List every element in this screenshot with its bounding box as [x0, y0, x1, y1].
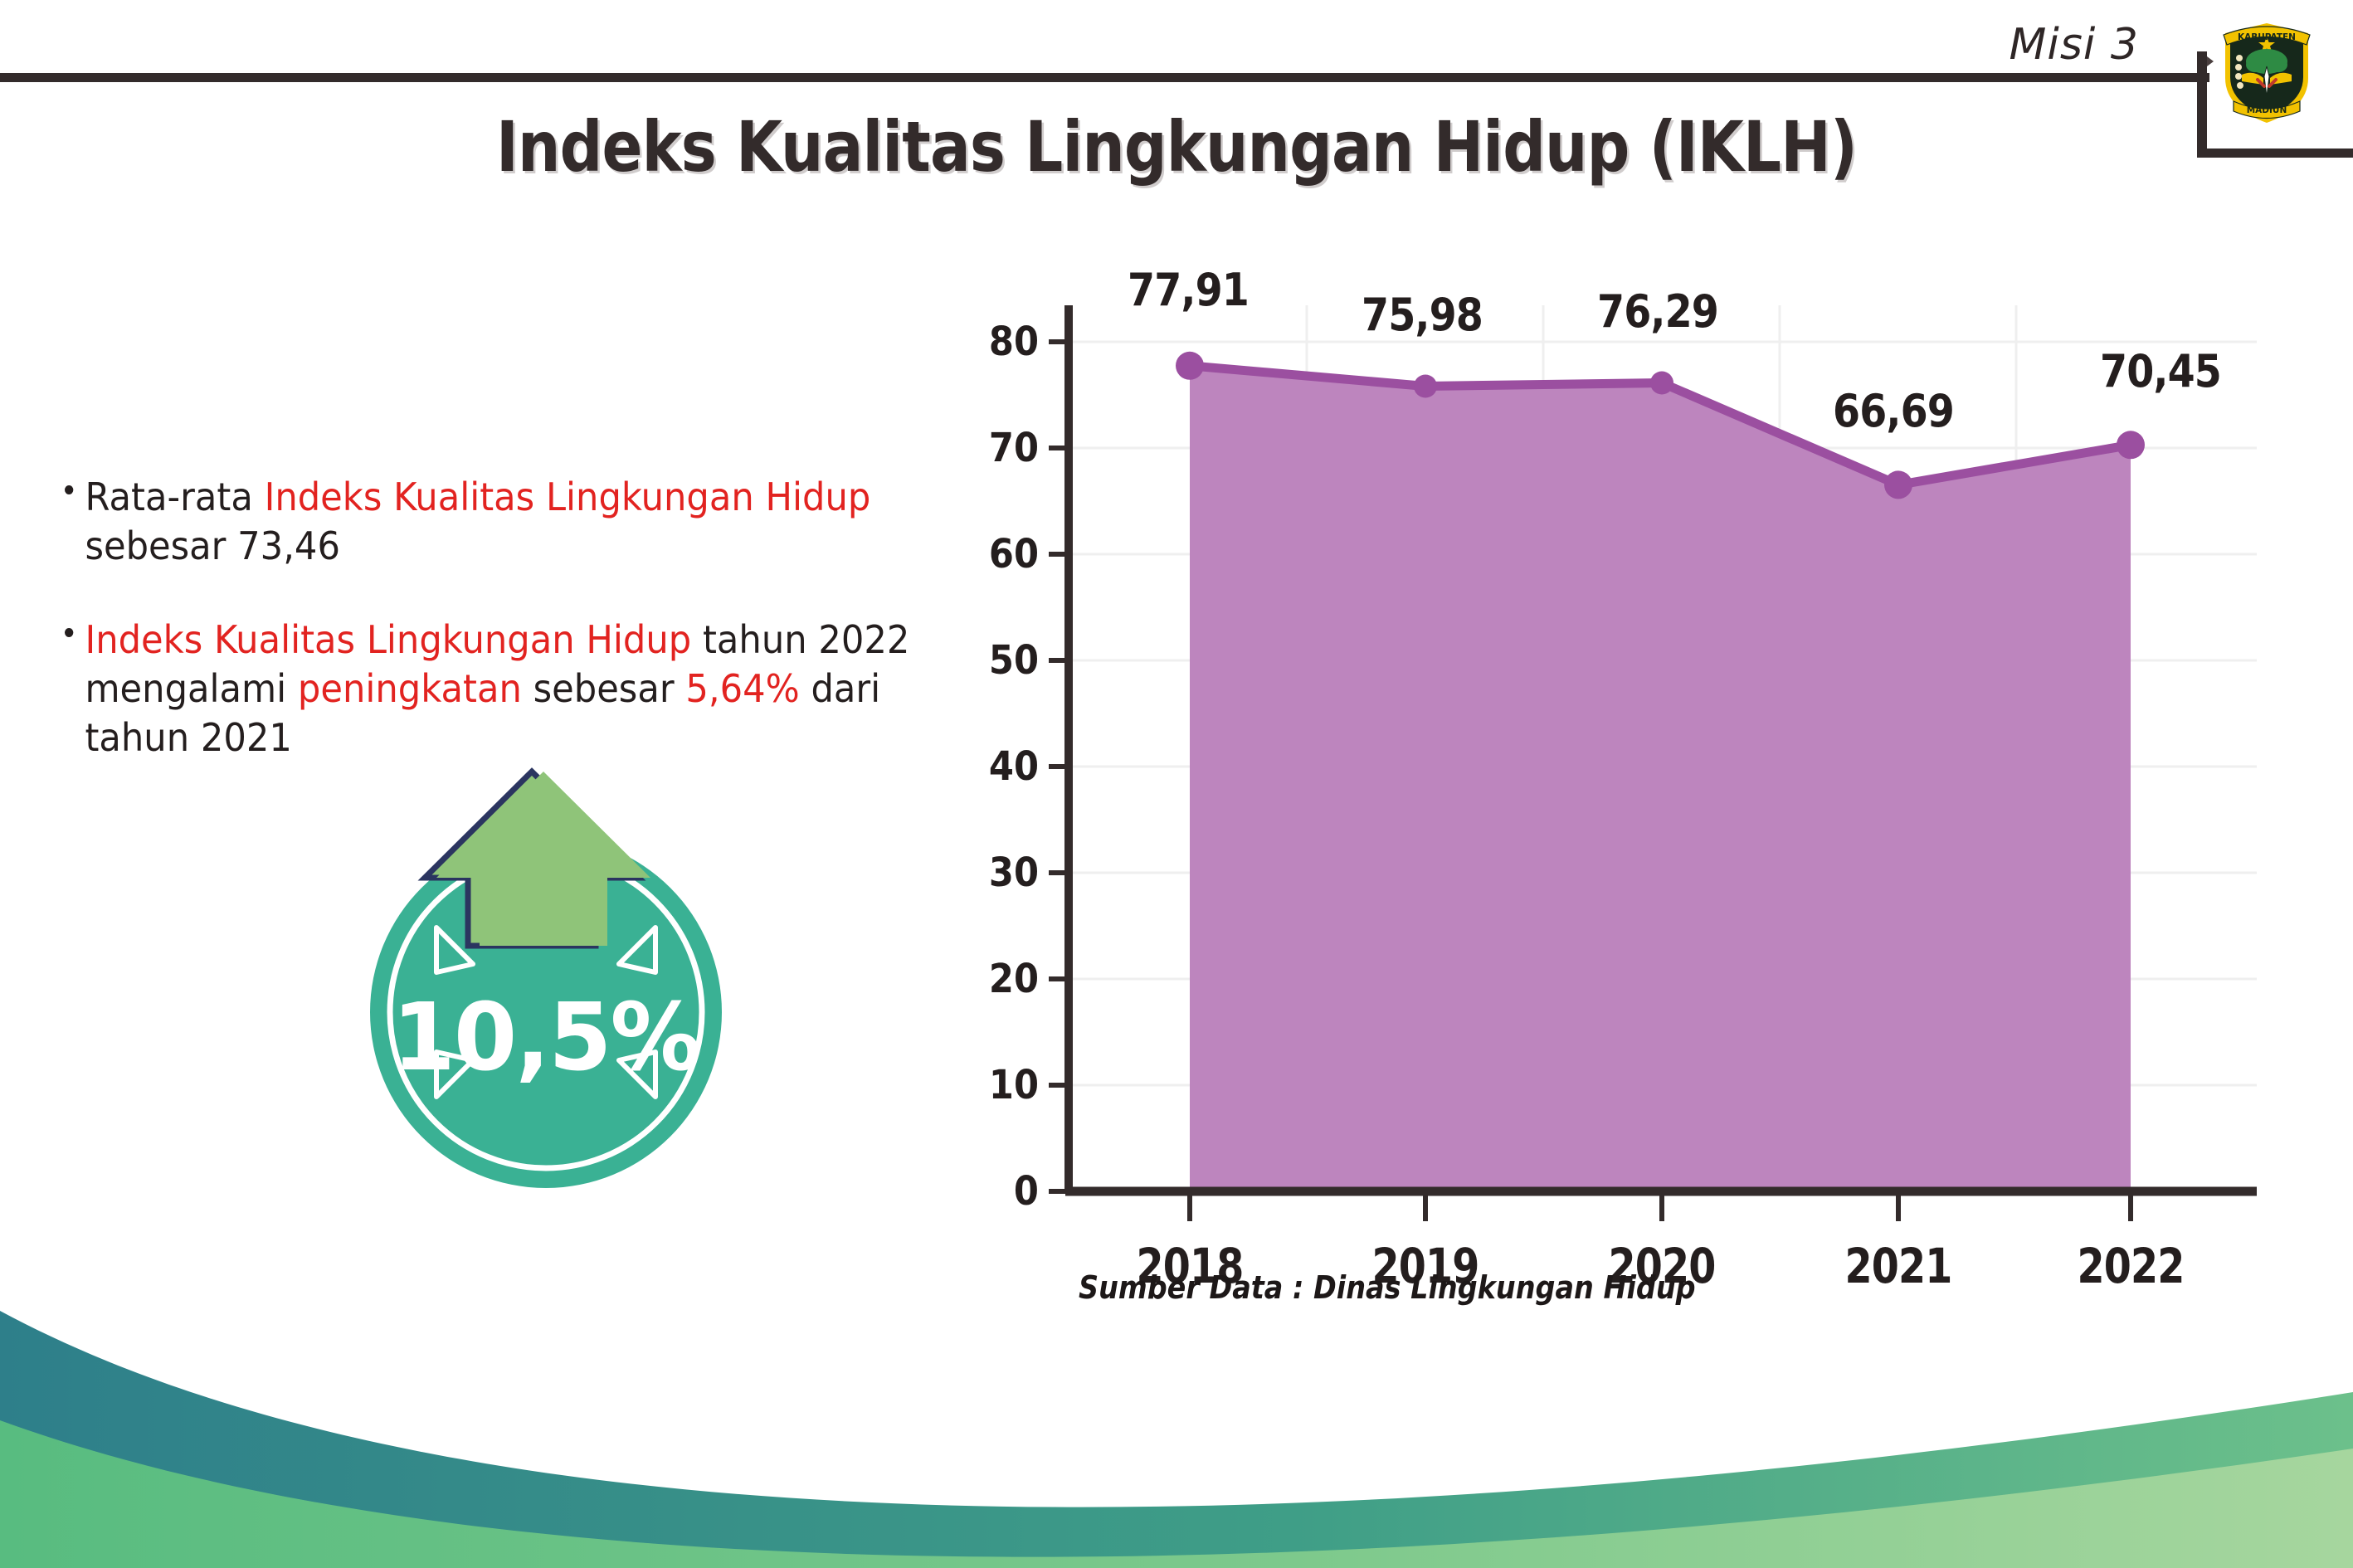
data-label-2020: 76,29 [1570, 285, 1745, 338]
bullet-item-2: Indeks Kualitas Lingkungan Hidup tahun 2… [65, 616, 915, 762]
badge-value: 10,5% [334, 984, 758, 1092]
header-divider-rule [0, 73, 2209, 82]
y-tick-label-10: 10 [957, 1062, 1039, 1108]
bullet-2-seg-3: sebesar [522, 666, 685, 711]
emblem-bottom-text: MADIUN [2247, 105, 2287, 115]
iklh-area-chart: 80 70 60 50 40 30 20 10 0 2018 2019 2020… [962, 282, 2257, 1261]
growth-badge: 10,5% [330, 747, 762, 1211]
y-tick-label-30: 30 [957, 850, 1039, 896]
y-tick-label-80: 80 [957, 319, 1039, 365]
bullet-2-seg-2: peningkatan [298, 666, 522, 711]
bullet-item-1: Rata-rata Indeks Kualitas Lingkungan Hid… [65, 473, 915, 571]
x-tick-label-2021: 2021 [1824, 1238, 1973, 1294]
bullet-dot-icon [65, 485, 73, 494]
y-tick-label-70: 70 [957, 425, 1039, 471]
footer-wave-graphic [0, 1294, 2353, 1568]
page-title: Indeks Kualitas Lingkungan Hidup (IKLH) [165, 106, 2189, 187]
chart-canvas [962, 282, 2257, 1261]
y-tick-label-40: 40 [957, 743, 1039, 790]
data-label-2021: 66,69 [1805, 385, 1980, 437]
bracket-vertical-bar [2197, 51, 2207, 158]
kabupaten-madiun-emblem-icon: KABUPATEN MADIUN [2217, 15, 2316, 128]
infographic-slide: Misi 3 KABUPATEN MADIUN Indeks Kua [0, 0, 2353, 1568]
data-label-2018: 77,91 [1100, 264, 1275, 316]
bracket-horizontal-bar [2197, 149, 2353, 158]
bullet-2-seg-4: 5,64% [685, 666, 799, 711]
bullet-2-seg-0: Indeks Kualitas Lingkungan Hidup [85, 617, 691, 662]
mission-label: Misi 3 [2010, 20, 2139, 70]
bullet-1-seg-2: sebesar 73,46 [85, 523, 340, 568]
footer-wave: Media Infografis Data Statistik Sektoral… [0, 1294, 2353, 1568]
growth-badge-graphic [330, 747, 762, 1211]
bullet-1-seg-0: Rata-rata [85, 475, 264, 519]
bullet-1-seg-1: Indeks Kualitas Lingkungan Hidup [265, 475, 871, 519]
y-tick-label-20: 20 [957, 956, 1039, 1002]
bullet-dot-icon [65, 628, 73, 637]
y-tick-label-0: 0 [957, 1168, 1039, 1215]
x-tick-label-2022: 2022 [2056, 1238, 2205, 1294]
area-fill [1190, 366, 2131, 1191]
y-tick-label-50: 50 [957, 637, 1039, 684]
data-label-2019: 75,98 [1334, 289, 1509, 341]
emblem-top-text: KABUPATEN [2238, 32, 2296, 42]
data-label-2022: 70,45 [2073, 345, 2248, 397]
y-tick-label-60: 60 [957, 531, 1039, 577]
